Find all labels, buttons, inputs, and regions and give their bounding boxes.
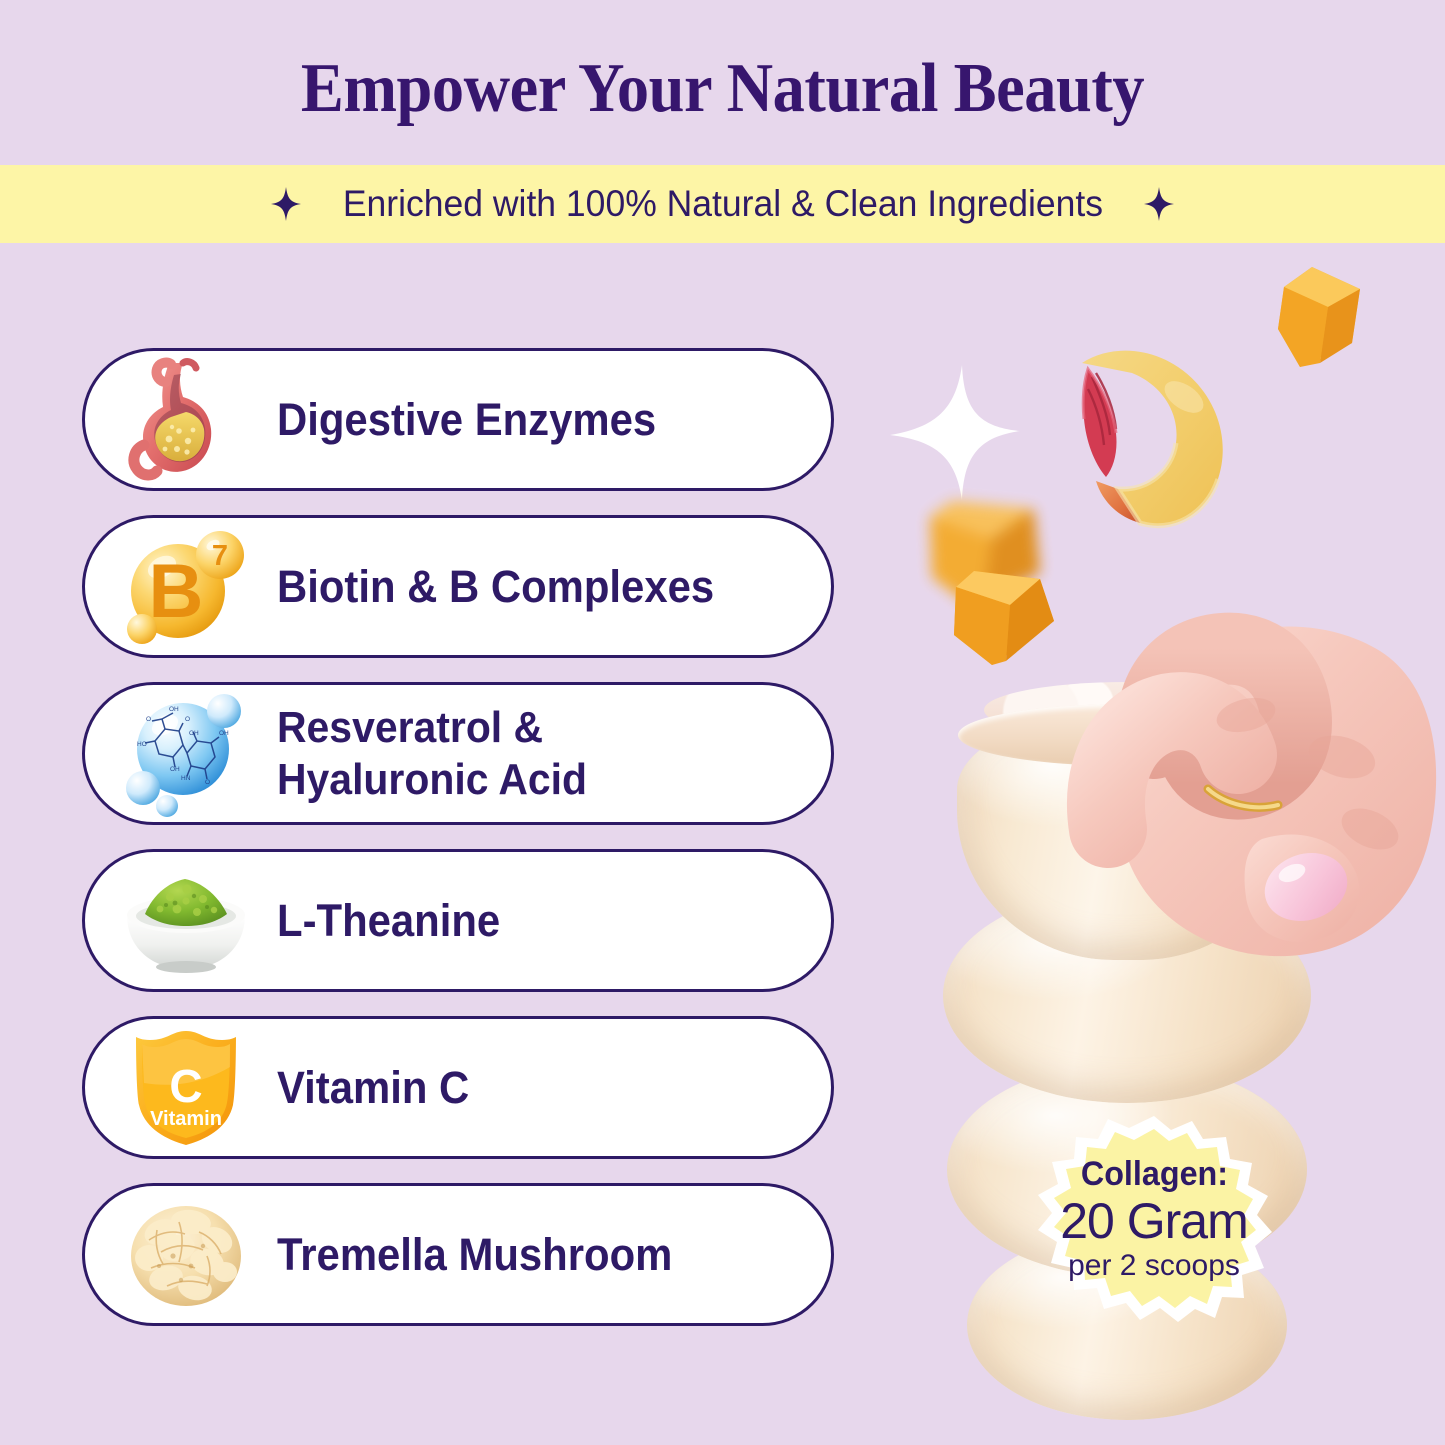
subtitle-banner: Enriched with 100% Natural & Clean Ingre… xyxy=(0,165,1445,243)
svg-text:OH: OH xyxy=(170,766,180,773)
sparkle-4-point-icon-right xyxy=(1144,187,1174,221)
product-photo: Collagen: 20 Gram per 2 scoops xyxy=(880,243,1445,1445)
ingredient-feature-list: Digestive Enzymes xyxy=(82,348,834,1326)
page-title: Empower Your Natural Beauty xyxy=(58,47,1387,131)
stomach-organ-icon xyxy=(107,356,265,484)
feature-label: Tremella Mushroom xyxy=(277,1228,672,1281)
svg-text:7: 7 xyxy=(212,540,228,572)
svg-text:OH: OH xyxy=(219,730,229,737)
hyaluronic-acid-molecule-sphere-icon: OHO HOOH OOH OHO HN xyxy=(107,690,265,818)
svg-text:O: O xyxy=(185,716,190,723)
green-tea-powder-bowl-icon xyxy=(107,857,265,985)
feature-card-vitamin-c[interactable]: C Vitamin Vitamin C xyxy=(82,1016,834,1159)
tremella-mushroom-icon xyxy=(107,1191,265,1319)
hand-holding-glass-icon xyxy=(1050,543,1445,1003)
badge-line-amount: 20 Gram xyxy=(1060,1194,1248,1248)
feature-label: Digestive Enzymes xyxy=(277,393,656,446)
feature-label: Biotin & B Complexes xyxy=(277,560,714,613)
svg-text:HN: HN xyxy=(181,775,191,782)
svg-text:O: O xyxy=(205,779,210,786)
badge-line-serving: per 2 scoops xyxy=(1068,1249,1240,1283)
badge-line-collagen: Collagen: xyxy=(1080,1155,1227,1193)
badge-text-group: Collagen: 20 Gram per 2 scoops xyxy=(1020,1113,1288,1325)
svg-text:B: B xyxy=(149,549,204,634)
svg-text:O: O xyxy=(146,716,151,723)
vitamin-b7-sphere-icon: B 7 xyxy=(107,523,265,651)
feature-card-resveratrol-hyaluronic-acid[interactable]: OHO HOOH OOH OHO HN Resveratrol & Hyalur… xyxy=(82,682,834,825)
svg-text:Vitamin: Vitamin xyxy=(150,1108,222,1130)
feature-label: Vitamin C xyxy=(277,1061,469,1114)
svg-text:OH: OH xyxy=(169,706,179,713)
sparkle-4-point-white-icon xyxy=(890,365,1020,500)
feature-label: L-Theanine xyxy=(277,894,500,947)
sparkle-4-point-icon xyxy=(271,187,301,221)
feature-label: Resveratrol & Hyaluronic Acid xyxy=(277,702,587,806)
svg-text:HO: HO xyxy=(137,741,147,748)
vitamin-c-shield-icon: C Vitamin xyxy=(107,1024,265,1152)
feature-card-biotin-b-complexes[interactable]: B 7 Biotin & B Complexes xyxy=(82,515,834,658)
svg-text:C: C xyxy=(169,1060,202,1112)
mango-cube-icon xyxy=(1272,263,1368,375)
feature-card-digestive-enzymes[interactable]: Digestive Enzymes xyxy=(82,348,834,491)
feature-card-tremella-mushroom[interactable]: Tremella Mushroom xyxy=(82,1183,834,1326)
collagen-badge: Collagen: 20 Gram per 2 scoops xyxy=(1020,1113,1288,1325)
mango-cube-front-icon xyxy=(948,565,1060,673)
subtitle-text: Enriched with 100% Natural & Clean Ingre… xyxy=(342,184,1102,224)
feature-card-l-theanine[interactable]: L-Theanine xyxy=(82,849,834,992)
peach-slice-icon xyxy=(1066,341,1248,539)
svg-text:OH: OH xyxy=(189,730,199,737)
